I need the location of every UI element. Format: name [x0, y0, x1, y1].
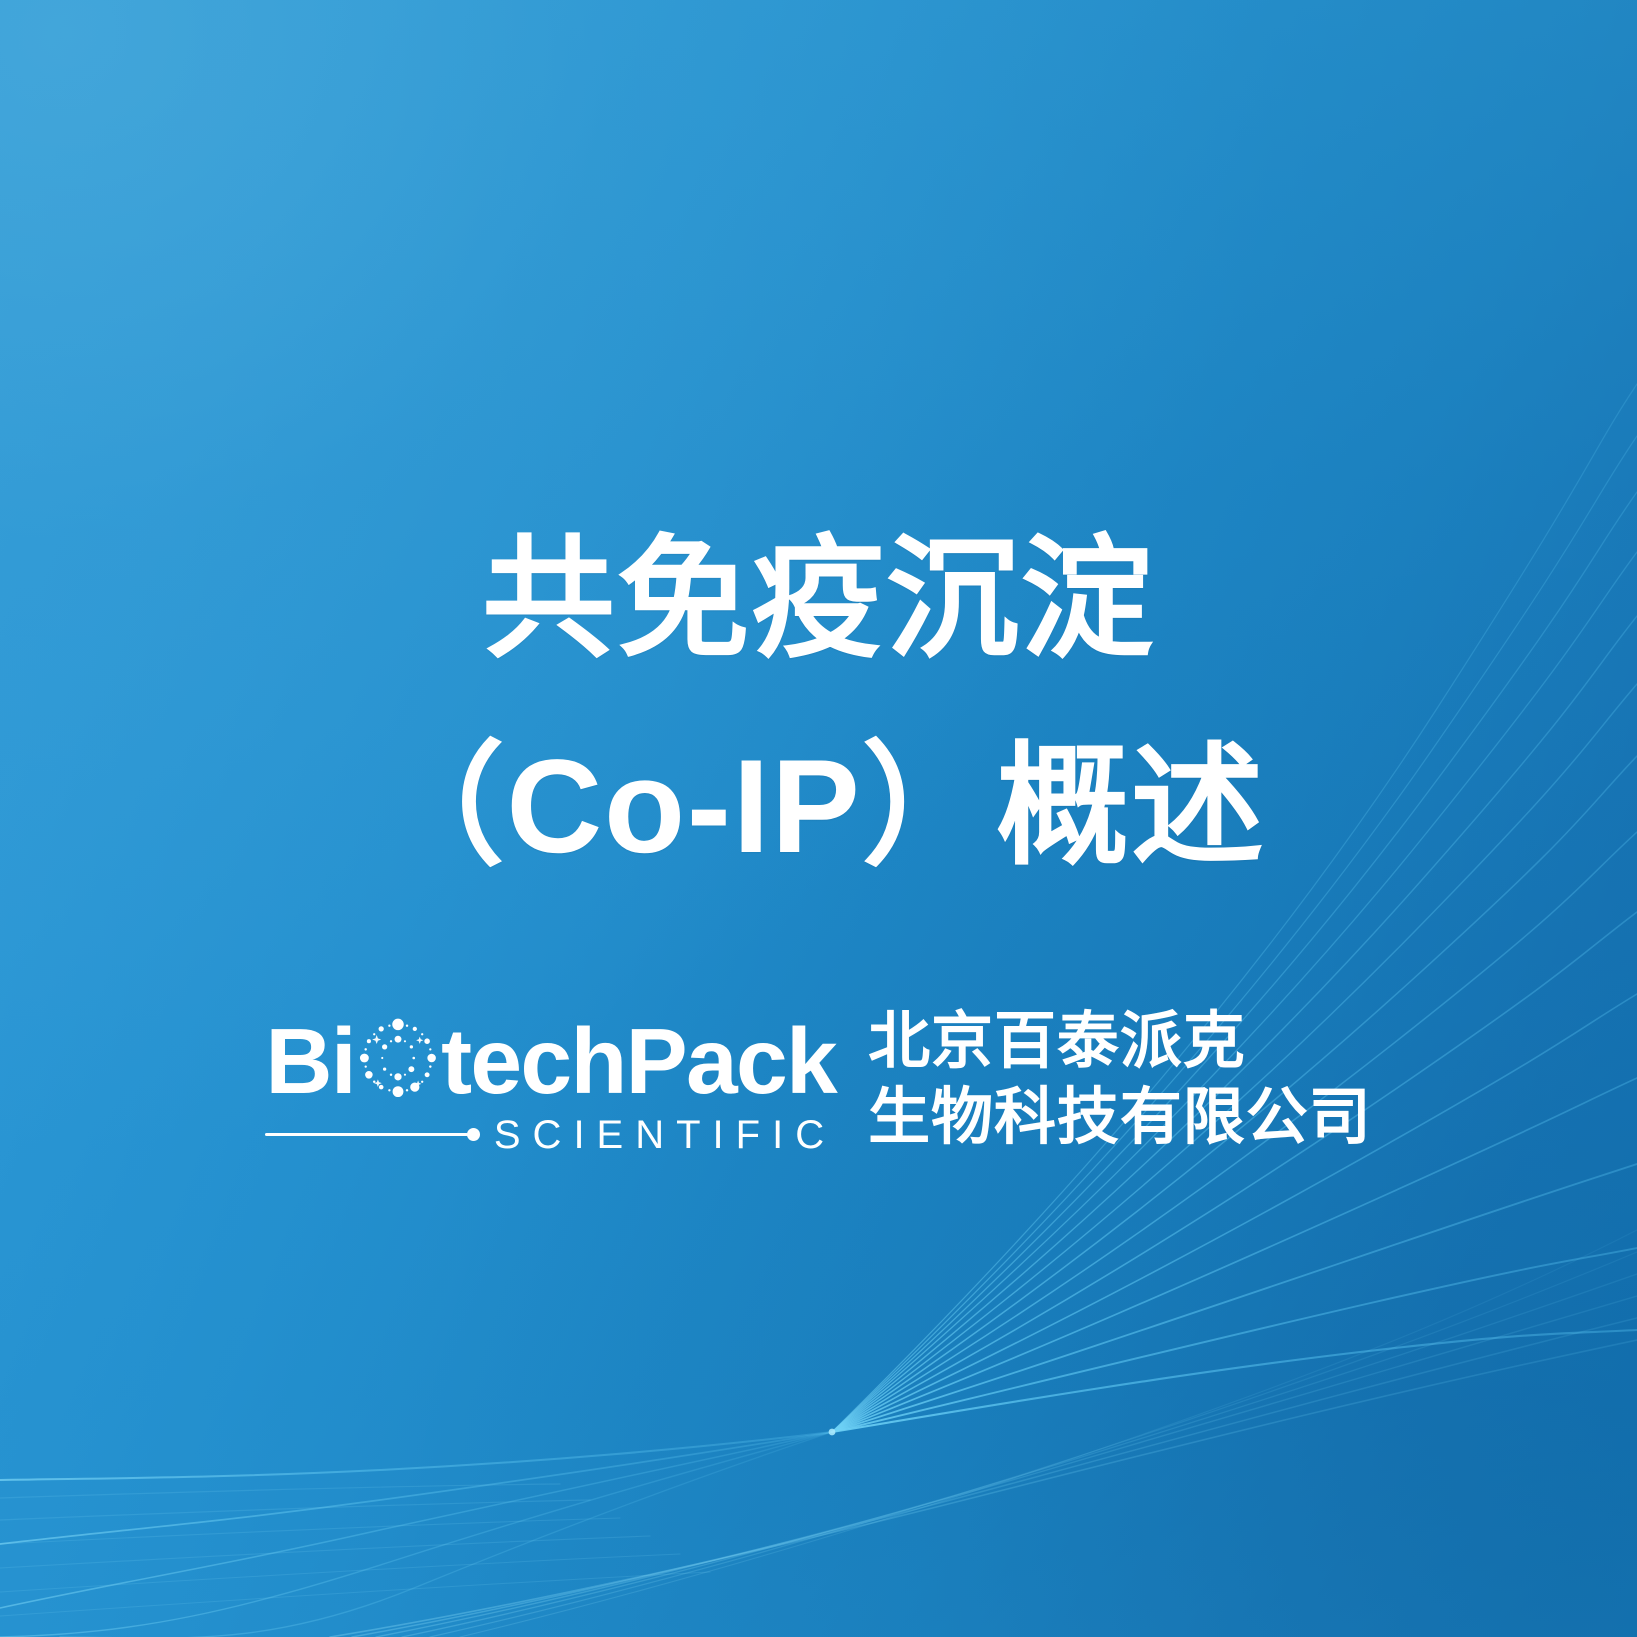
logo-tagline-row: SCIENTIFIC	[265, 1115, 836, 1155]
tagline-dot-icon	[467, 1128, 480, 1141]
brand-logo-lockup: Bi	[265, 1004, 1371, 1161]
title-line-1: 共免疫沉淀	[0, 497, 1637, 704]
company-name-line-1: 北京百泰派克	[868, 1004, 1371, 1080]
promo-card: 共免疫沉淀 （Co-IP）概述 Bi	[0, 0, 1637, 1637]
logo-tagline: SCIENTIFIC	[494, 1115, 836, 1155]
biotechpack-logo: Bi	[265, 1011, 836, 1155]
tagline-rule	[265, 1133, 467, 1136]
page-title: 共免疫沉淀 （Co-IP）概述	[0, 497, 1637, 912]
company-name-line-2: 生物科技有限公司	[868, 1080, 1371, 1156]
wordmark-prefix: Bi	[265, 1015, 355, 1108]
logo-wordmark: Bi	[265, 1011, 836, 1108]
atom-molecule-icon	[357, 1017, 439, 1099]
title-line-2: （Co-IP）概述	[0, 704, 1637, 911]
company-name-chinese: 北京百泰派克 生物科技有限公司	[868, 1004, 1371, 1161]
wordmark-suffix: techPack	[441, 1015, 836, 1108]
